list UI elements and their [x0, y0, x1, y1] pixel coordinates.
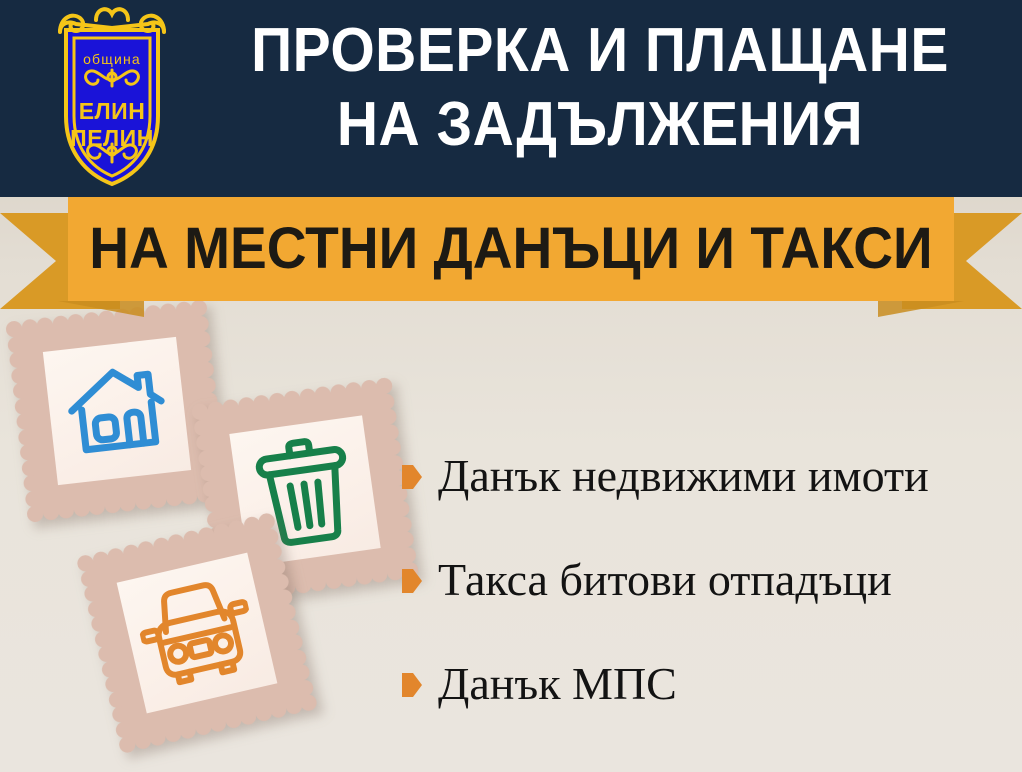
stamp-scallop: [194, 330, 212, 348]
stamp-scallop: [119, 495, 137, 513]
stamp-scallop: [292, 663, 311, 682]
stamp-scallop: [21, 319, 39, 337]
list-item[interactable]: Данък МПС: [402, 632, 1014, 736]
stamp-scallop: [134, 493, 152, 511]
stamp-scallop: [344, 381, 362, 399]
stamp-scallop: [19, 443, 37, 461]
stamp-scallop: [329, 383, 347, 401]
stamp-scallop: [57, 502, 75, 520]
stamp-scallop: [285, 633, 304, 652]
stamp-scallop: [252, 394, 270, 412]
stamp-scallop: [204, 495, 222, 513]
stamp-scallop: [17, 428, 35, 446]
stamp-scallop: [377, 392, 395, 410]
stamp-scallop: [314, 386, 332, 404]
stamp-scallop: [222, 398, 240, 416]
stamp-scallop: [5, 320, 23, 338]
poster-canvas: община ЕЛИН ПЕЛИН ПРОВЕРКА И ПЛАЩАНЕ НА …: [0, 0, 1022, 772]
stamp-scallop: [14, 397, 32, 415]
poster-title: ПРОВЕРКА И ПЛАЩАНЕ НА ЗАДЪЛЖЕНИЯ: [190, 14, 1010, 162]
bullet-arrow-icon: [402, 465, 422, 489]
stamp-scallop: [67, 313, 85, 331]
house-icon: [58, 352, 175, 469]
stamp-scallop: [90, 614, 109, 633]
stamp-card-property-tax: [14, 308, 220, 514]
stamp-scallop: [83, 584, 102, 603]
list-item-label: Данък недвижими имоти: [438, 450, 929, 502]
subtitle-ribbon: НА МЕСТНИ ДАНЪЦИ И ТАКСИ: [0, 197, 1022, 313]
stamp-scallop: [25, 490, 43, 508]
ribbon-banner: НА МЕСТНИ ДАНЪЦИ И ТАКСИ: [68, 197, 954, 301]
stamp-scallop: [111, 705, 130, 724]
stamp-scallop: [379, 408, 397, 426]
stamp-scallop: [237, 396, 255, 414]
stamp-scallop: [278, 602, 297, 621]
stamp-scallop: [9, 351, 27, 369]
stamp-scallop: [42, 503, 60, 521]
list-item[interactable]: Такса битови отпадъци: [402, 528, 1014, 632]
stamp-scallop: [268, 392, 286, 410]
stamp-scallop: [340, 570, 358, 588]
stamp-scallop: [202, 480, 220, 498]
stamp-scallop: [197, 449, 215, 467]
stamp-scallop: [82, 311, 100, 329]
stamp-scallop: [298, 388, 316, 406]
stamp-scallop: [382, 423, 400, 441]
stamp-scallop: [103, 496, 121, 514]
stamp-scallop: [199, 376, 217, 394]
stamp-scallop: [206, 401, 224, 419]
list-item-label: Такса битови отпадъци: [438, 554, 892, 606]
bullet-arrow-icon: [402, 673, 422, 697]
title-line-2: НА ЗАДЪЛЖЕНИЯ: [223, 88, 977, 162]
stamp-scallop: [299, 693, 318, 712]
stamp-scallop: [360, 379, 378, 397]
stamp-scallop: [324, 572, 342, 590]
stamp-scallop: [309, 574, 327, 592]
stamp-scallop: [51, 315, 69, 333]
stamp-scallop: [21, 459, 39, 477]
stamp-scallop: [149, 491, 167, 509]
stamp-scallop: [294, 576, 312, 594]
stamp-scallop: [384, 438, 402, 456]
stamp-scallop: [386, 563, 404, 581]
service-list: Данък недвижими имоти Такса битови отпад…: [402, 424, 1014, 736]
stamp-paper: [43, 337, 191, 485]
stamp-card-vehicle-tax: [85, 521, 308, 744]
title-line-1: ПРОВЕРКА И ПЛАЩАНЕ: [223, 14, 977, 88]
list-item-label: Данък МПС: [438, 658, 677, 710]
car-front-icon: [131, 572, 263, 695]
stamp-scallop: [197, 361, 215, 379]
ribbon-fold-shadow-right: [878, 301, 964, 317]
stamp-scallop: [26, 505, 44, 523]
stamp-scallop: [165, 489, 183, 507]
stamp-scallop: [23, 474, 41, 492]
stamp-scallop: [192, 315, 210, 333]
stamp-scallop: [195, 345, 213, 363]
stamp-scallop: [375, 377, 393, 395]
stamp-scallop: [16, 413, 34, 431]
stamp-scallop: [355, 568, 373, 586]
stamp-scallop: [193, 418, 211, 436]
stamp-scallop: [180, 488, 198, 506]
stamp-scallop: [12, 382, 30, 400]
stamp-scallop: [370, 565, 388, 583]
stamp-scallop: [97, 644, 116, 663]
coat-of-arms-icon: община ЕЛИН ПЕЛИН: [38, 6, 186, 192]
svg-text:ЕЛИН: ЕЛИН: [79, 98, 146, 124]
ribbon-label: НА МЕСТНИ ДАНЪЦИ И ТАКСИ: [89, 219, 932, 279]
stamp-scallop: [104, 675, 123, 694]
stamp-scallop: [88, 498, 106, 516]
bullet-arrow-icon: [402, 569, 422, 593]
municipality-logo: община ЕЛИН ПЕЛИН: [38, 6, 186, 192]
stamp-scallop: [7, 336, 25, 354]
stamp-scallop: [36, 317, 54, 335]
stamp-scallop: [72, 500, 90, 518]
stamp-scallop: [283, 390, 301, 408]
list-item[interactable]: Данък недвижими имоти: [402, 424, 1014, 528]
stamp-scallop: [10, 366, 28, 384]
svg-text:община: община: [83, 51, 141, 67]
